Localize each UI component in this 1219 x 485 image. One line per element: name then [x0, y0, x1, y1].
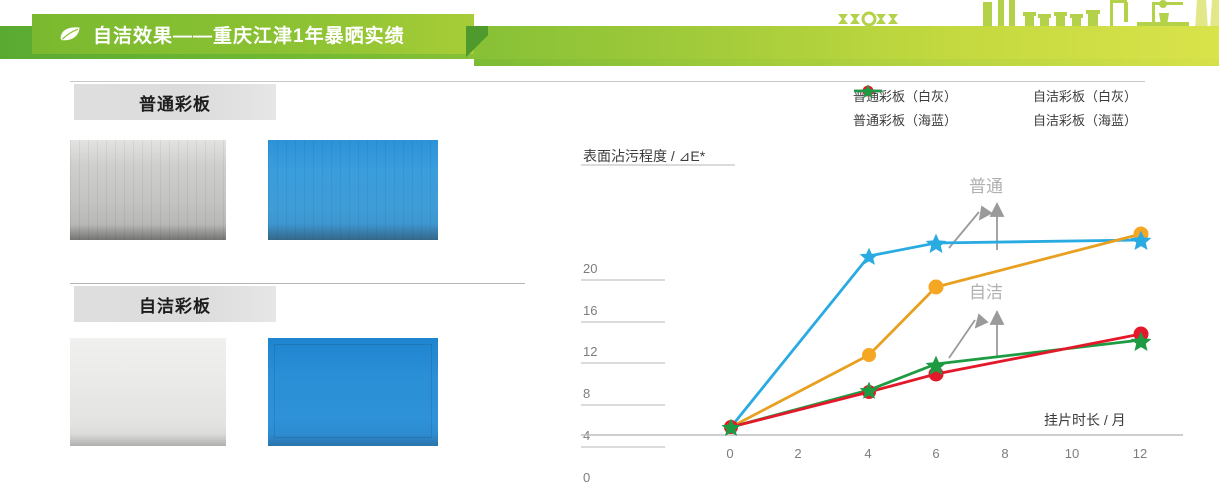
- page-header: 自洁效果——重庆江津1年暴晒实绩: [0, 0, 1219, 70]
- panel-inner-edge: [274, 344, 432, 438]
- section-label-selfclean-text: 自洁彩板: [139, 292, 211, 317]
- grime-overlay: [70, 434, 226, 446]
- leaf-icon: [58, 24, 82, 44]
- grime-overlay: [70, 224, 226, 240]
- grime-overlay: [268, 434, 438, 446]
- blue-panel-clean-photo: [268, 338, 438, 446]
- gray-panel-dirty-photo: [70, 140, 226, 240]
- markers-ordinary-gray: [724, 227, 1149, 435]
- chart-plot-area: [545, 70, 1219, 476]
- band-notch: [466, 26, 488, 66]
- section-label-ordinary-text: 普通彩板: [139, 90, 211, 115]
- gray-panel-clean-photo: [70, 338, 226, 446]
- section-label-selfclean: 自洁彩板: [74, 286, 276, 322]
- series-line-ordinary-blue: [731, 240, 1141, 427]
- markers-selfclean-gray: [724, 327, 1149, 435]
- header-band-tail: [474, 59, 1219, 66]
- section-label-ordinary: 普通彩板: [74, 84, 276, 120]
- sample-photos-panel: 普通彩板 自洁彩板: [0, 70, 545, 476]
- header-title-chip: 自洁效果——重庆江津1年暴晒实绩: [32, 14, 474, 54]
- series-line-ordinary-gray: [731, 234, 1141, 427]
- y-tick-underlines: [581, 165, 735, 447]
- grime-overlay: [268, 224, 438, 240]
- page-title: 自洁效果——重庆江津1年暴晒实绩: [93, 21, 405, 48]
- line-chart: 普通彩板（白灰） 自洁彩板（白灰） 普通彩板（海蓝）: [545, 70, 1219, 476]
- divider-middle: [70, 283, 525, 284]
- blue-panel-dirty-photo: [268, 140, 438, 240]
- series-line-selfclean-green: [731, 340, 1141, 427]
- markers-ordinary-blue: [722, 231, 1152, 436]
